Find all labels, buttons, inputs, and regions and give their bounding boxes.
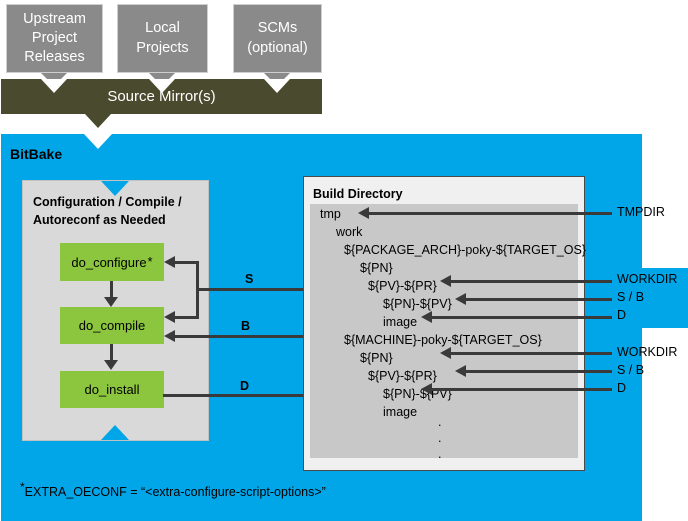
tmpdir-connector-head xyxy=(358,207,369,219)
s-branch-configure-head xyxy=(164,256,175,268)
d-1-connector-line xyxy=(430,316,612,319)
bitbake-input-notch xyxy=(84,134,112,149)
d-output-line xyxy=(163,394,304,397)
side-label-d-2: D xyxy=(617,381,626,395)
tree-row: ${PN}-${PV} xyxy=(383,295,452,313)
s-feed-line xyxy=(196,288,313,291)
workdir-2-connector-head xyxy=(440,347,451,359)
task-box-do-configure[interactable]: do_configure* xyxy=(60,243,164,281)
flow-arrow-compile-to-install-line xyxy=(110,344,113,361)
s-branch-configure-line xyxy=(173,261,199,264)
workdir-2-connector-line xyxy=(449,352,612,355)
d-1-connector-head xyxy=(421,311,432,323)
d-2-connector-line xyxy=(430,388,612,391)
tree-row: ${PV}-${PR} xyxy=(368,277,437,295)
build-directory-title: Build Directory xyxy=(313,187,403,201)
tree-row: ${PN} xyxy=(360,259,393,277)
task-box-do-install[interactable]: do_install xyxy=(60,371,164,408)
tree-row: image xyxy=(383,403,417,421)
side-label-workdir-2: WORKDIR xyxy=(617,345,677,359)
workdir-1-connector-line xyxy=(449,280,612,283)
source-box-upstream-project-releases: Upstream Project Releases xyxy=(6,4,103,73)
side-label-workdir-1: WORKDIR xyxy=(617,272,677,286)
tree-ellipsis-dot: . xyxy=(438,414,441,430)
flow-label-d: D xyxy=(240,379,249,393)
task-label: do_configure xyxy=(71,255,146,270)
flow-label-s: S xyxy=(245,272,253,286)
workdir-1-connector-head xyxy=(440,275,451,287)
flow-arrow-compile-to-install-head xyxy=(104,360,118,370)
s-branch-compile-line xyxy=(173,316,199,319)
bitbake-title: BitBake xyxy=(10,146,62,162)
side-label-d-1: D xyxy=(617,308,626,322)
sb-2-connector-line xyxy=(464,370,612,373)
diagram-canvas: Upstream Project Releases Local Projects… xyxy=(0,0,688,521)
side-label-sb-1: S / B xyxy=(617,290,644,304)
flow-label-b: B xyxy=(241,319,250,333)
tree-row: ${PACKAGE_ARCH}-poky-${TARGET_OS} xyxy=(344,241,586,259)
d-2-connector-head xyxy=(421,383,432,395)
config-panel-title: Configuration / Compile / Autoreconf as … xyxy=(33,193,198,229)
tree-row: tmp xyxy=(320,205,341,223)
source-box-label: Upstream Project Releases xyxy=(7,10,102,67)
source-box-local-projects: Local Projects xyxy=(117,4,208,73)
tree-row: ${PN} xyxy=(360,349,393,367)
task-label: do_compile xyxy=(79,318,146,333)
sb-1-connector-head xyxy=(455,293,466,305)
mirror-notch-scms xyxy=(264,79,290,93)
config-panel-notch-bottom xyxy=(101,425,129,440)
sb-2-connector-head xyxy=(455,365,466,377)
task-box-do-compile[interactable]: do_compile xyxy=(60,307,164,344)
mirror-notch-upstream xyxy=(41,79,67,93)
source-box-label: SCMs (optional) xyxy=(234,19,321,57)
footnote-text: EXTRA_OECONF = “<extra-configure-script-… xyxy=(25,485,326,499)
flow-arrow-configure-to-compile-line xyxy=(110,281,113,298)
s-branch-compile-head xyxy=(164,311,175,323)
side-label-tmpdir: TMPDIR xyxy=(617,205,665,219)
side-label-sb-2: S / B xyxy=(617,363,644,377)
tree-ellipsis-dot: . xyxy=(438,430,441,446)
mirror-notch-local xyxy=(149,79,175,93)
source-box-label: Local Projects xyxy=(118,19,207,57)
flow-arrow-configure-to-compile-head xyxy=(104,297,118,307)
tree-row: work xyxy=(336,223,362,241)
b-feed-head xyxy=(164,330,175,342)
tmpdir-connector-line xyxy=(367,212,612,215)
mirror-output-tab xyxy=(85,114,111,128)
footnote: *EXTRA_OECONF = “<extra-configure-script… xyxy=(20,485,326,499)
b-feed-line xyxy=(173,335,313,338)
task-label: do_install xyxy=(85,382,140,397)
tree-row: image xyxy=(383,313,417,331)
sb-1-connector-line xyxy=(464,298,612,301)
source-box-scms-optional: SCMs (optional) xyxy=(233,4,322,73)
tree-ellipsis-dot: . xyxy=(438,446,441,462)
s-bracket-spine xyxy=(196,261,199,319)
